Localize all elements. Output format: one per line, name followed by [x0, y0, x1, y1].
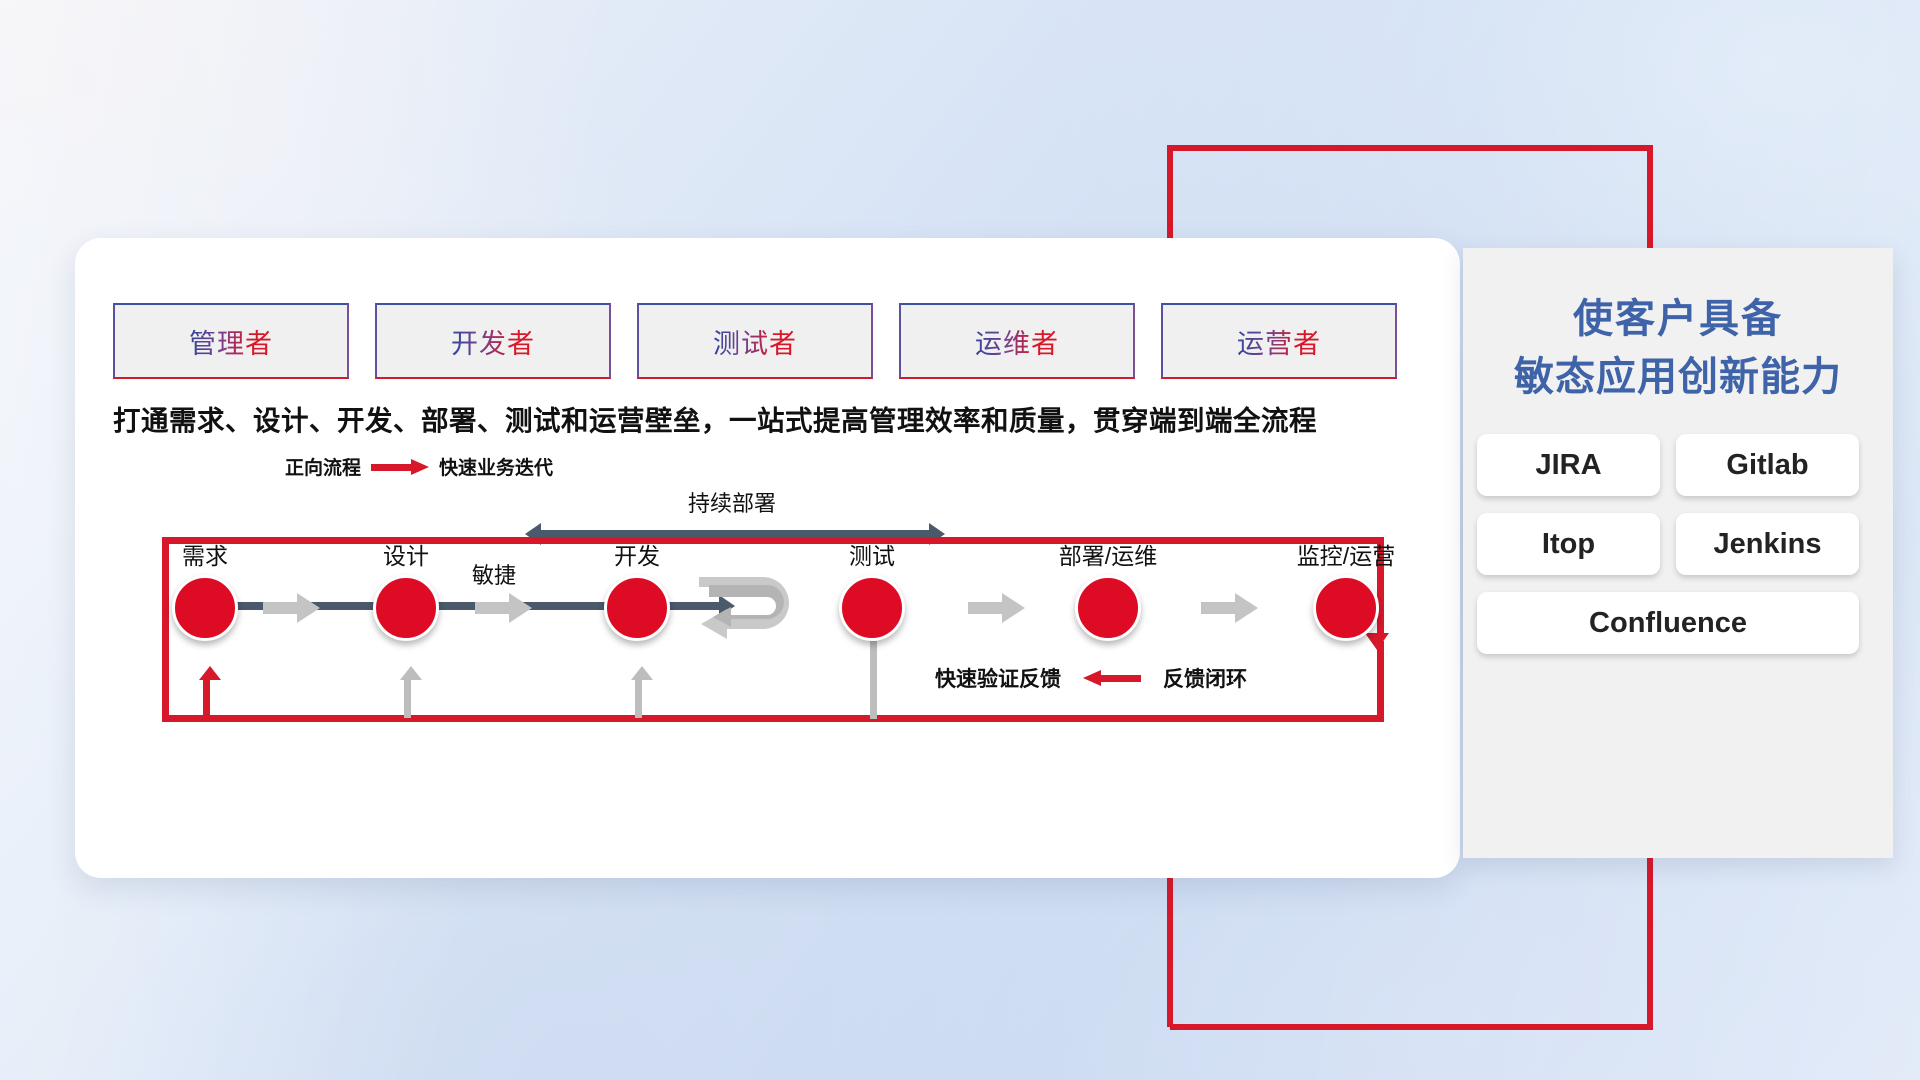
flow-arrow-icon: [968, 591, 1026, 625]
feedback-left-label: 快速验证反馈: [935, 663, 1061, 693]
tool-button-confluence[interactable]: Confluence: [1477, 592, 1859, 654]
main-diagram-card: 管理者 开发者 测试者 运维者 运营者 打通需求、设计、开发、部署、测试和运营壁…: [75, 238, 1460, 878]
flow-arrow-icon: [263, 591, 321, 625]
node-circle-icon: [373, 575, 439, 641]
tool-button-jira[interactable]: JIRA: [1477, 434, 1660, 496]
pipeline-node-label: 设计: [383, 537, 429, 571]
node-circle-icon: [1313, 575, 1379, 641]
iteration-loop-icon: [697, 575, 805, 645]
tool-list: JIRA Gitlab Itop Jenkins Confluence: [1477, 434, 1879, 654]
feedback-riser-develop: [635, 678, 642, 718]
pipeline-node-test[interactable]: 测试: [839, 575, 905, 641]
feedback-arrowhead-design: [400, 666, 422, 680]
tool-button-jenkins[interactable]: Jenkins: [1676, 513, 1859, 575]
feedback-loop-legend: 快速验证反馈 反馈闭环: [935, 663, 1247, 693]
feedback-riser-requirement: [203, 678, 210, 718]
tool-button-itop[interactable]: Itop: [1477, 513, 1660, 575]
feedback-riser-design: [404, 678, 411, 718]
pipeline-node-design[interactable]: 设计: [373, 575, 439, 641]
feedback-riser-test: [870, 641, 877, 719]
pipeline-node-label: 开发: [614, 537, 660, 571]
node-circle-icon: [1075, 575, 1141, 641]
feedback-arrowhead-requirement: [199, 666, 221, 680]
pipeline-node-label: 测试: [849, 537, 895, 571]
pipeline-node-develop[interactable]: 开发: [604, 575, 670, 641]
pipeline-node-label: 监控/运营: [1297, 537, 1395, 571]
pipeline-node-label: 部署/运维: [1059, 537, 1157, 571]
pipeline-node-monitor-operation[interactable]: 监控/运营: [1313, 575, 1379, 641]
tool-button-gitlab[interactable]: Gitlab: [1676, 434, 1859, 496]
pipeline-node-label: 需求: [182, 537, 228, 571]
capability-panel: 使客户具备 敏态应用创新能力 JIRA Gitlab Itop Jenkins …: [1463, 248, 1893, 858]
capability-title-line1: 使客户具备: [1463, 290, 1893, 348]
feedback-right-label: 反馈闭环: [1163, 663, 1247, 693]
capability-panel-title: 使客户具备 敏态应用创新能力: [1463, 290, 1893, 406]
left-arrow-icon: [1083, 670, 1141, 686]
feedback-riser-monitor: [1377, 641, 1384, 681]
feedback-arrowhead-develop: [631, 666, 653, 680]
capability-title-line2: 敏态应用创新能力: [1463, 348, 1893, 406]
node-circle-icon: [604, 575, 670, 641]
flow-arrow-icon: [1201, 591, 1259, 625]
pipeline-node-deploy-ops[interactable]: 部署/运维: [1075, 575, 1141, 641]
pipeline-node-requirement[interactable]: 需求: [172, 575, 238, 641]
node-circle-icon: [172, 575, 238, 641]
node-circle-icon: [839, 575, 905, 641]
pipeline: 需求 设计 开发 测试 部署/运维 监控/运营: [75, 238, 1460, 878]
flow-arrow-icon: [475, 591, 533, 625]
